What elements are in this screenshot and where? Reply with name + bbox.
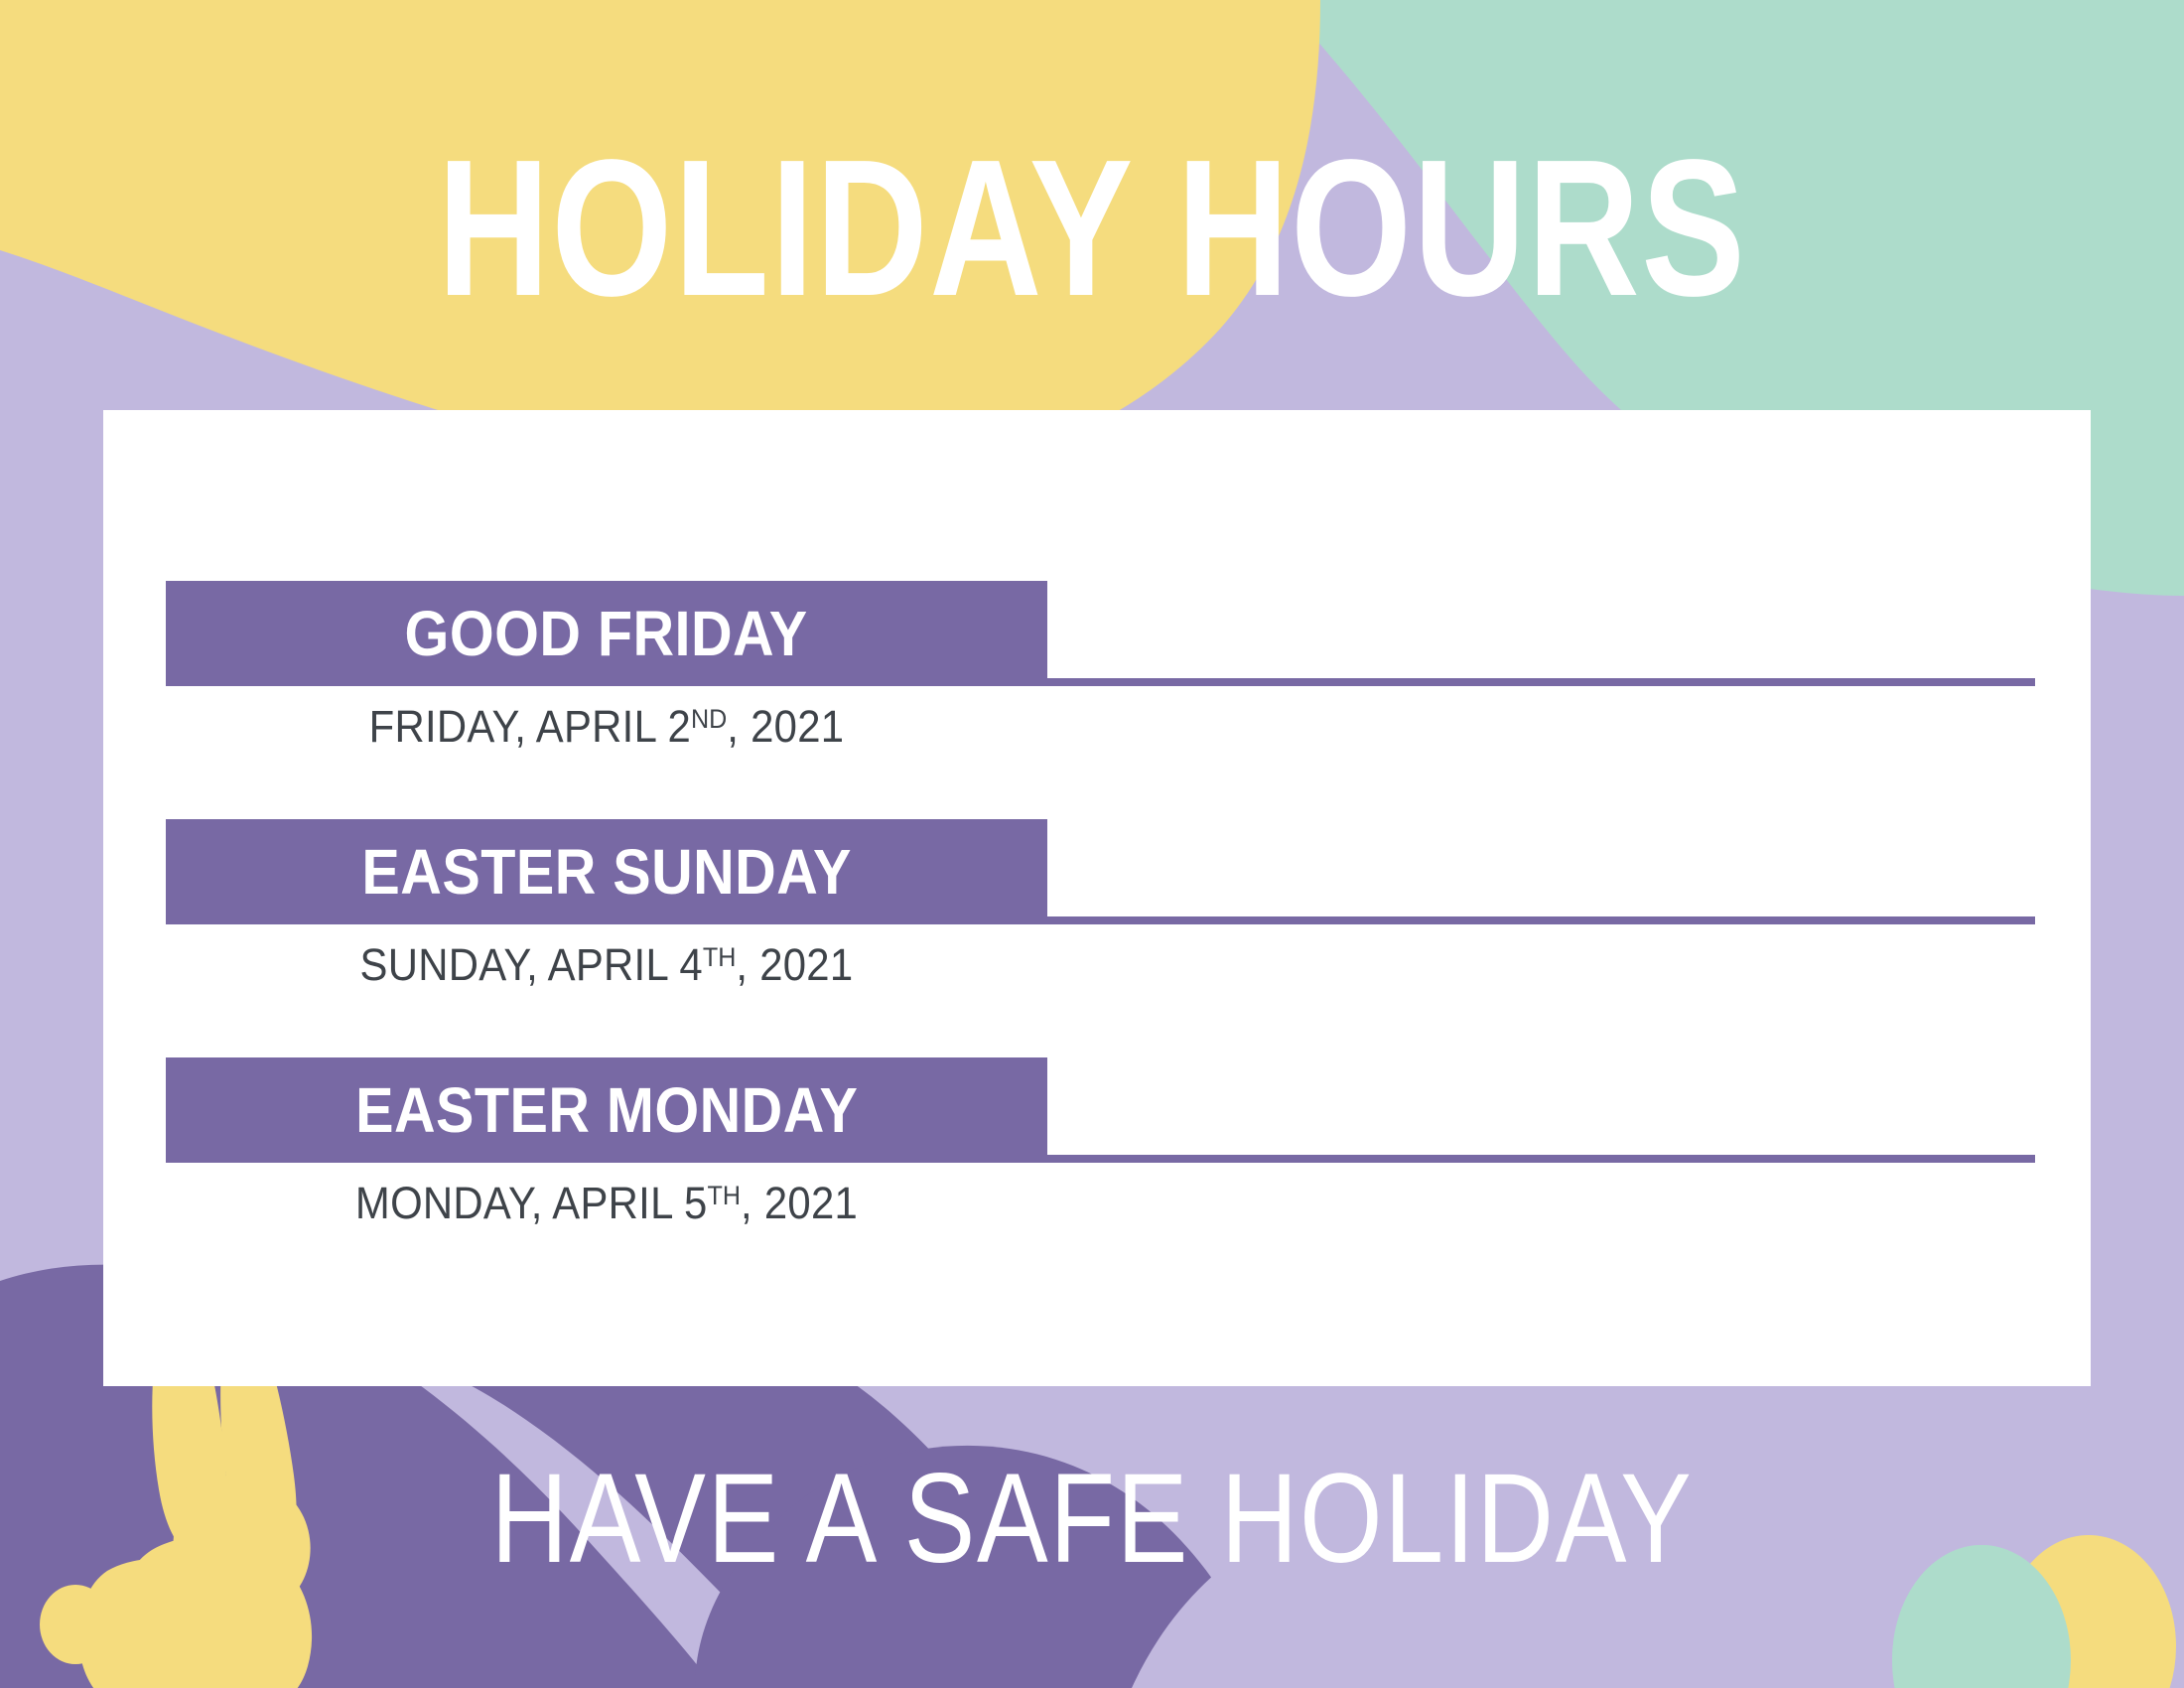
footer-message: HAVE A SAFE HOLIDAY	[175, 1456, 2009, 1583]
holiday-bar-wrap: EASTER SUNDAY	[103, 819, 2091, 924]
holiday-name-bar: GOOD FRIDAY	[166, 581, 1047, 686]
holiday-row: EASTER MONDAY MONDAY, APRIL 5TH, 2021	[103, 1057, 2091, 1163]
holiday-date-suffix: , 2021	[736, 939, 853, 990]
holiday-row: EASTER SUNDAY SUNDAY, APRIL 4TH, 2021	[103, 819, 2091, 924]
hours-write-in-line[interactable]	[1047, 916, 2035, 924]
holiday-date: SUNDAY, APRIL 4TH, 2021	[197, 928, 1017, 994]
holiday-name-bar: EASTER SUNDAY	[166, 819, 1047, 924]
holiday-date-prefix: MONDAY, APRIL 5	[355, 1178, 708, 1228]
holiday-date-ordinal: TH	[708, 1181, 741, 1210]
holiday-bar-wrap: GOOD FRIDAY	[103, 581, 2091, 686]
holiday-date-prefix: SUNDAY, APRIL 4	[360, 939, 703, 990]
holiday-date-ordinal: TH	[703, 942, 736, 972]
holiday-name-bar: EASTER MONDAY	[166, 1057, 1047, 1163]
holiday-date-suffix: , 2021	[741, 1178, 858, 1228]
holiday-date: MONDAY, APRIL 5TH, 2021	[197, 1167, 1017, 1232]
hours-write-in-line[interactable]	[1047, 678, 2035, 686]
hours-card: GOOD FRIDAY FRIDAY, APRIL 2ND, 2021 EAST…	[103, 410, 2091, 1386]
holiday-name-label: EASTER MONDAY	[355, 1078, 858, 1142]
holiday-hours-poster: HOLIDAY HOURS GOOD FRIDAY FRIDAY, APRIL …	[0, 0, 2184, 1688]
holiday-date-prefix: FRIDAY, APRIL 2	[369, 701, 691, 752]
page-title: HOLIDAY HOURS	[218, 131, 1966, 326]
holiday-date-suffix: , 2021	[727, 701, 844, 752]
holiday-date: FRIDAY, APRIL 2ND, 2021	[197, 690, 1017, 756]
holiday-name-label: GOOD FRIDAY	[405, 602, 808, 665]
hours-write-in-line[interactable]	[1047, 1155, 2035, 1163]
holiday-date-ordinal: ND	[691, 704, 727, 734]
holiday-bar-wrap: EASTER MONDAY	[103, 1057, 2091, 1163]
holiday-name-label: EASTER SUNDAY	[361, 840, 851, 904]
holiday-row: GOOD FRIDAY FRIDAY, APRIL 2ND, 2021	[103, 581, 2091, 686]
